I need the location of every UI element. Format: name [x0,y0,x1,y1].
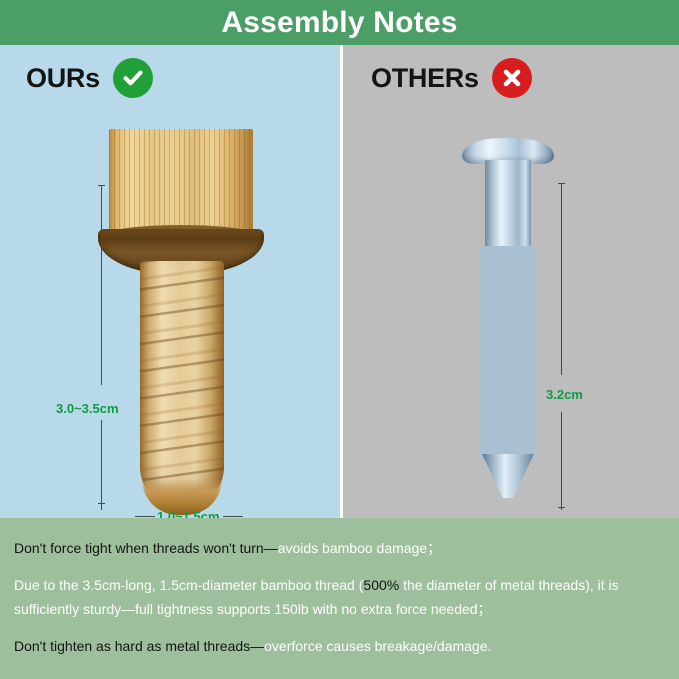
panel-others-label: OTHERs [371,65,479,92]
check-circle-icon [113,58,153,98]
panel-others-header: OTHERs [371,58,532,98]
note-item: Due to the 3.5cm-long, 1.5cm-diameter ba… [14,573,665,621]
panel-ours-header: OURs [26,58,153,98]
bamboo-thread [140,261,224,509]
note-dash: — [264,540,278,556]
panel-ours: OURs 3.0~3.5cm [0,45,340,518]
metal-screw-threads [480,246,536,461]
dimension-line-thread-length-upper [101,185,102,385]
dimension-label-thread-diameter: 1.0~1.5cm [157,510,220,518]
dimension-label-screw-length: 3.2cm [546,388,583,401]
note-dash: — [250,638,264,654]
note-tail: full tightness supports 150lb with no ex… [135,601,491,617]
note-item: Don't force tight when threads won't tur… [14,536,665,560]
note-tail: overforce causes breakage/damage. [264,638,491,654]
assembly-notes-infographic: Assembly Notes OURs [0,0,679,679]
dimension-line-thread-diameter-left [135,516,155,517]
note-tail: avoids bamboo damage； [278,540,441,556]
dimension-line-screw-length-lower [561,412,562,510]
dimension-label-thread-length: 3.0~3.5cm [56,402,119,415]
dimension-cap-thread-length-top [98,185,105,186]
note-lead-a: Due to the 3.5cm-long, 1.5cm-diameter ba… [14,577,363,593]
dimension-line-thread-length-lower [101,420,102,510]
metal-screw-shank [485,160,531,252]
note-dash: — [121,601,135,617]
dimension-cap-screw-length-top [558,183,565,184]
dimension-cap-screw-length-bottom [558,507,565,508]
dimension-line-thread-diameter-right [223,516,243,517]
note-lead: Don't force tight when threads won't tur… [14,540,264,556]
panel-ours-label: OURs [26,65,100,92]
bamboo-screw-image [96,129,266,514]
panel-others: OTHERs 3.2cm [340,45,679,518]
header-banner: Assembly Notes [0,0,679,45]
bamboo-shaft [109,129,253,239]
assembly-notes-list: Don't force tight when threads won't tur… [0,518,679,679]
dimension-line-screw-length-upper [561,183,562,375]
note-item: Don't tighten as hard as metal threads—o… [14,634,665,658]
x-circle-icon [492,58,532,98]
note-emphasis: 500% [363,577,399,593]
page-title: Assembly Notes [221,8,457,38]
metal-screw-tip [482,454,534,498]
comparison-area: OURs 3.0~3.5cm [0,45,679,518]
note-lead: Don't tighten as hard as metal threads [14,638,250,654]
dimension-cap-thread-length-bottom [98,503,105,504]
metal-screw-image [462,138,554,513]
